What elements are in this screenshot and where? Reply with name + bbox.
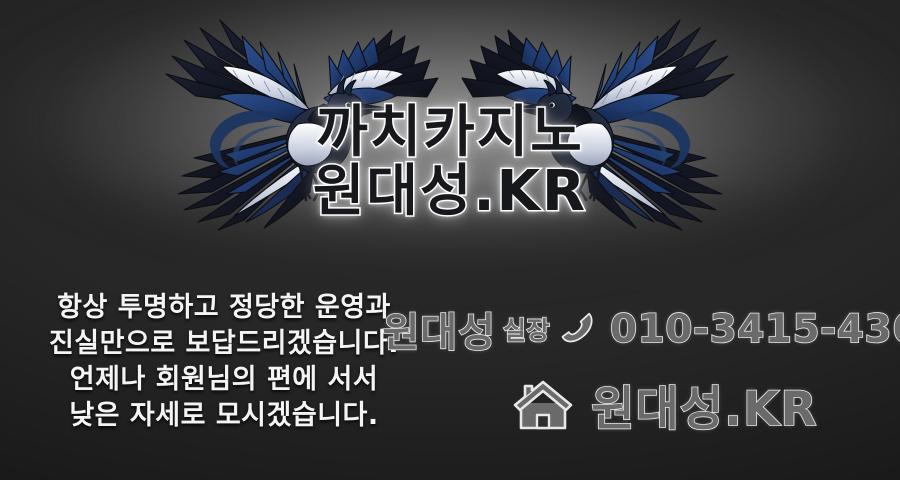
manager-name: 원대성 [383,300,496,358]
brand-title-line-1: 까치카지노 [0,104,900,161]
slogan-line-3: 언제나 회원님의 편에 서서 [24,362,424,398]
casino-promo-banner: 까치카지노 원대성.KR 항상 투명하고 정당한 운영과 진실만으로 보답드리겠… [0,0,900,480]
slogan-line-1: 항상 투명하고 정당한 운영과 [24,290,424,326]
brand-title: 까치카지노 원대성.KR [0,104,900,220]
house-icon [512,377,574,433]
slogan-line-4: 낮은 자세로 모시겠습니다. [24,398,424,434]
brand-title-line-2: 원대성.KR [0,163,900,220]
slogan-line-2: 진실만으로 보답드리겠습니다. [24,326,424,362]
phone-contact-row[interactable]: 원대성 실장 010-3415-4369 [440,300,890,358]
phone-number[interactable]: 010-3415-4369 [610,307,900,352]
magpie-right-wing [324,30,438,106]
manager-role: 실장 [503,311,550,347]
phone-handset-icon [559,308,601,350]
slogan-block: 항상 투명하고 정당한 운영과 진실만으로 보답드리겠습니다. 언제나 회원님의… [24,290,424,434]
site-domain[interactable]: 원대성.KR [591,370,817,439]
domain-contact-row[interactable]: 원대성.KR [440,370,890,439]
contact-block: 원대성 실장 010-3415-4369 원대성.KR [440,300,890,439]
